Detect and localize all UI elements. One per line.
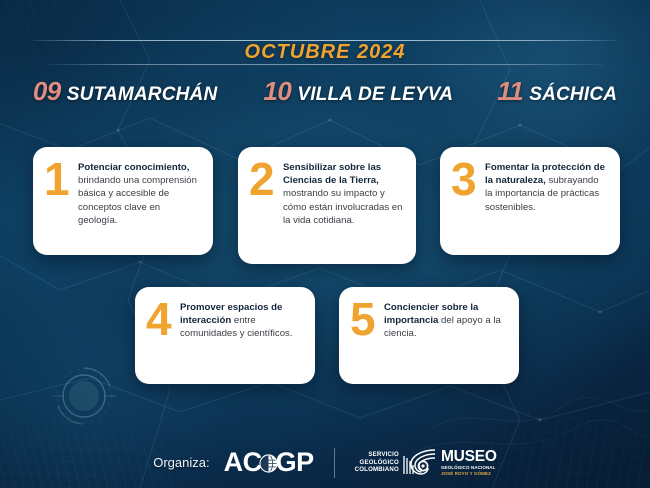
objective-card-4: 4 Promover espacios de interacción entre… [135,287,315,384]
sgc-line-2: GEOLÓGICO [355,459,399,467]
header-rule-bottom [46,64,604,65]
objective-card-1: 1 Potenciar conocimiento, brindando una … [33,147,213,255]
museo-subtitle-2: JOSÉ ROYO Y GÓMEZ [441,471,497,477]
poster-canvas: OCTUBRE 2024 09 SUTAMARCHÁN 10 VILLA DE … [0,0,650,488]
sgc-logo: SERVICIO GEOLÓGICO COLOMBIANO MUSEO GEOL… [355,448,497,478]
card-text: Sensibilizar sobre las Ciencias de la Ti… [283,159,404,227]
museo-name: MUSEO [441,449,497,465]
date-item-11: 11 SÁCHICA [497,76,617,107]
dates-row: 09 SUTAMARCHÁN 10 VILLA DE LEYVA 11 SÁCH… [0,76,650,107]
objective-card-5: 5 Conciencier sobre la importancia del a… [339,287,519,384]
date-number: 09 [33,76,61,107]
objective-card-2: 2 Sensibilizar sobre las Ciencias de la … [238,147,416,264]
objective-card-3: 3 Fomentar la protección de la naturalez… [440,147,620,255]
card-text-rest: brindando una comprensión básica y acces… [78,175,197,226]
sgc-line-3: COLOMBIANO [355,466,399,474]
card-text: Conciencier sobre la importancia del apo… [384,299,507,341]
date-number: 11 [497,76,523,107]
spiral-icon [402,448,436,478]
acggp-logo: A C G P [224,447,314,478]
date-place-name: VILLA DE LEYVA [297,84,453,106]
card-text-rest: mostrando su impacto y cómo están involu… [283,188,402,225]
acggp-letter-p: P [296,447,314,478]
acggp-letter-a: A [224,447,243,478]
date-item-09: 09 SUTAMARCHÁN [33,76,218,107]
page-title: OCTUBRE 2024 [0,41,650,64]
card-number: 3 [451,161,485,199]
date-place-name: SÁCHICA [529,84,617,106]
card-text: Potenciar conocimiento, brindando una co… [78,159,201,227]
footer-divider [334,448,335,478]
sgc-line-1: SERVICIO [355,451,399,459]
card-text-bold: Potenciar conocimiento, [78,162,189,173]
date-number: 10 [263,76,291,107]
card-number: 5 [350,301,384,339]
footer-logos: Organiza: A C G P SERVICIO GEOLÓGICO COL… [0,447,650,478]
card-text: Promover espacios de interacción entre c… [180,299,303,341]
acggp-letter-g: G [276,447,297,478]
card-number: 2 [249,161,283,199]
card-text-bold: Sensibilizar sobre las Ciencias de la Ti… [283,162,381,186]
card-number: 4 [146,301,180,339]
date-item-10: 10 VILLA DE LEYVA [263,76,453,107]
globe-icon [259,454,278,473]
sgc-wordmark: SERVICIO GEOLÓGICO COLOMBIANO [355,451,399,474]
museo-wordmark: MUSEO GEOLÓGICO NACIONAL JOSÉ ROYO Y GÓM… [441,449,497,477]
card-text: Fomentar la protección de la naturaleza,… [485,159,608,214]
date-place-name: SUTAMARCHÁN [67,84,218,106]
museo-subtitle-1: GEOLÓGICO NACIONAL [441,465,497,471]
card-number: 1 [44,161,78,199]
organiza-label: Organiza: [153,455,209,470]
hud-circle-decoration [48,360,120,432]
